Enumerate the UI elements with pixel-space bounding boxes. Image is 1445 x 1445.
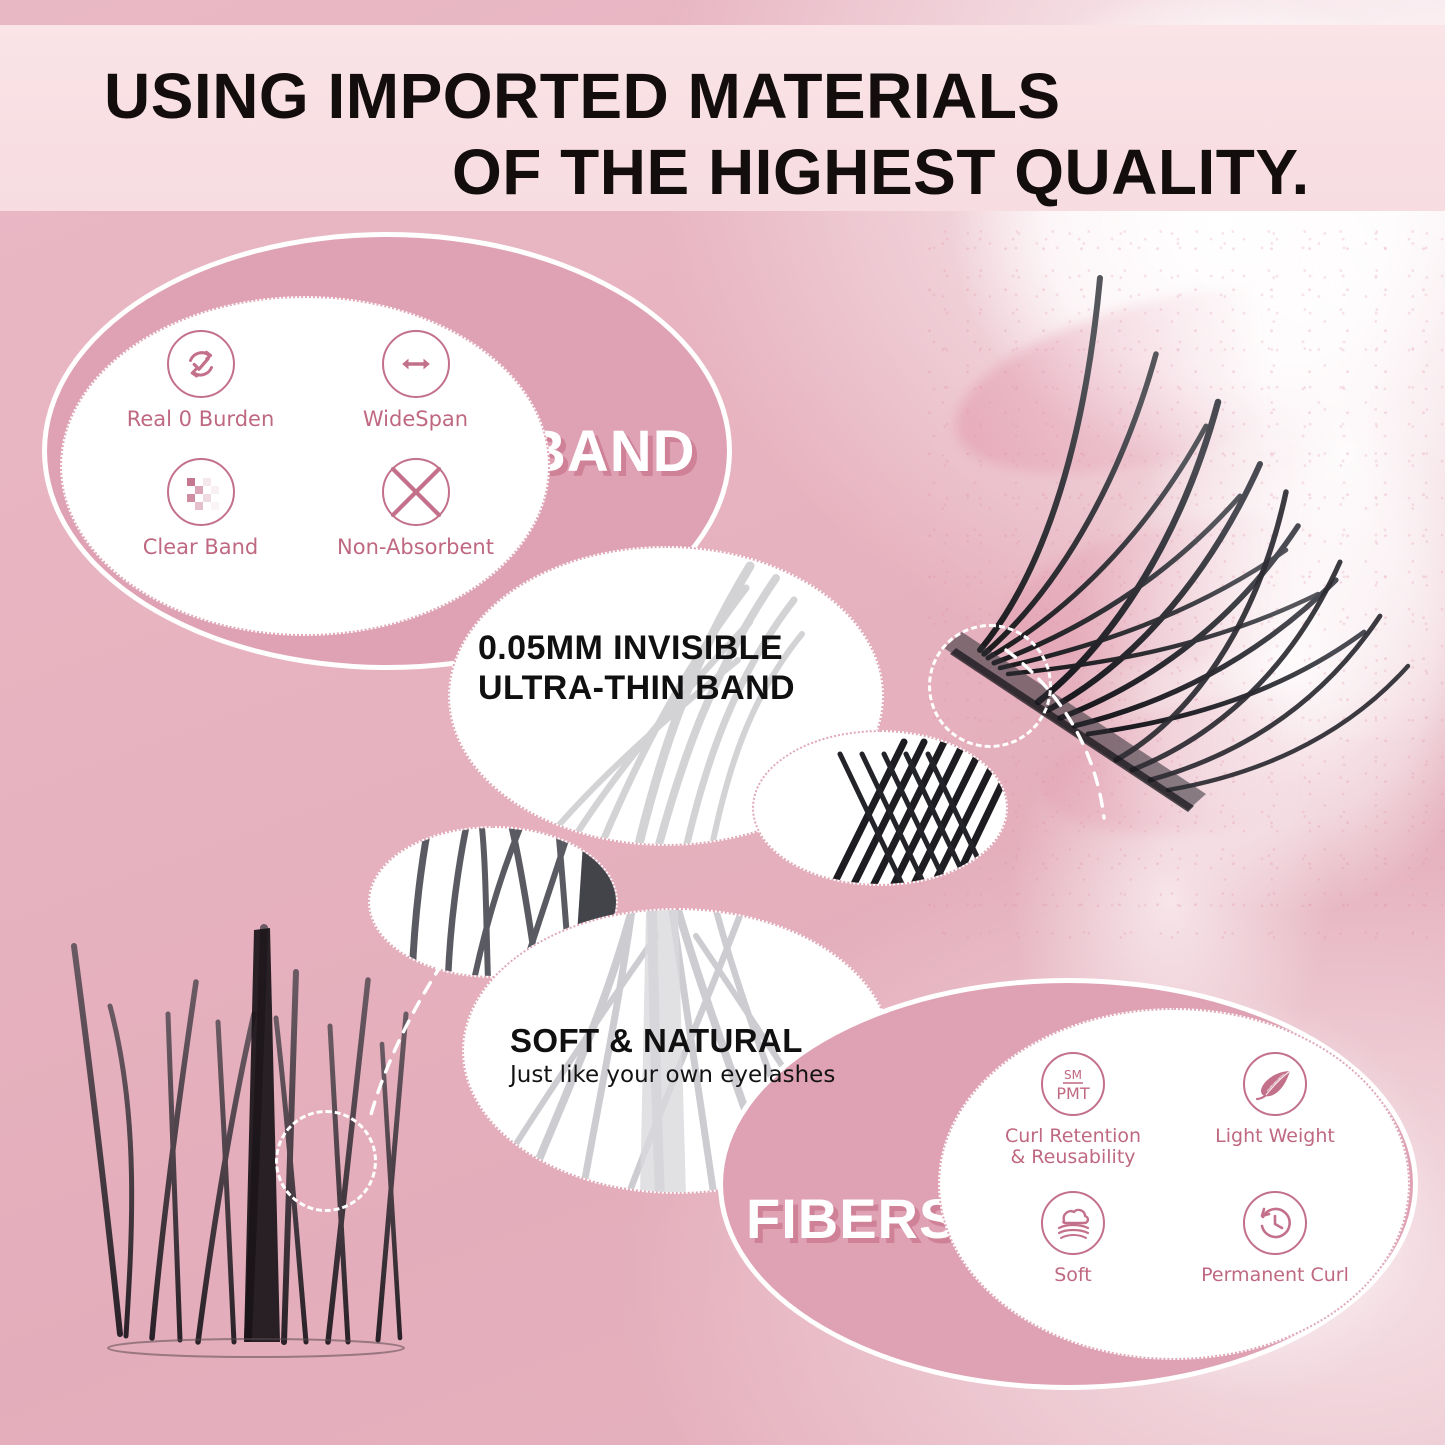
fibers-feature-label: Light Weight: [1215, 1126, 1335, 1147]
band-section-label: BAND: [524, 418, 696, 485]
dashed-zoom-ring-left: [275, 1110, 377, 1212]
band-feature-non-absorbent: Non-Absorbent: [313, 458, 518, 560]
band-feature-label: WideSpan: [363, 408, 468, 432]
sm-pmt-badge-icon: SM PMT: [1041, 1052, 1105, 1116]
band-feature-real-0-burden: Real 0 Burden: [98, 330, 303, 432]
fibers-feature-grid: SM PMT Curl Retention & Reusability Ligh: [976, 1052, 1372, 1286]
band-macro-lash-image: [754, 732, 1008, 886]
dashed-connector-band: [1000, 640, 1120, 830]
ultra-thin-band-heading: 0.05MM INVISIBLE ULTRA-THIN BAND: [478, 628, 858, 709]
pink-brush-stroke-upper: [937, 250, 1393, 509]
feather-icon: [1243, 1052, 1307, 1116]
fibers-feature-light-weight: Light Weight: [1178, 1052, 1372, 1169]
fibers-feature-permanent-curl: Permanent Curl: [1178, 1191, 1372, 1286]
infographic-canvas: USING IMPORTED MATERIALS OF THE HIGHEST …: [0, 0, 1445, 1445]
fibers-feature-label: Permanent Curl: [1201, 1265, 1349, 1286]
band-feature-grid: Real 0 Burden WideSpan: [98, 330, 518, 559]
cloud-waves-icon: [1041, 1191, 1105, 1255]
clock-rotate-icon: [1243, 1191, 1307, 1255]
dashed-zoom-ring-band: [928, 624, 1052, 748]
sm-label: SM: [1064, 1068, 1082, 1082]
soft-natural-heading: SOFT & NATURAL: [510, 1022, 860, 1060]
page-title-line-1: USING IMPORTED MATERIALS: [0, 59, 1445, 133]
pink-brush-stroke-lower: [1033, 676, 1408, 855]
double-arrow-horizontal-icon: [382, 330, 450, 398]
fibers-feature-soft: Soft: [976, 1191, 1170, 1286]
pink-brush-stroke-mid: [991, 486, 1409, 693]
ultra-thin-band-line-1: 0.05MM INVISIBLE: [478, 628, 858, 668]
fibers-feature-label: Curl Retention & Reusability: [1005, 1126, 1141, 1169]
header-banner: USING IMPORTED MATERIALS OF THE HIGHEST …: [0, 25, 1445, 211]
fibers-feature-label-line-2: & Reusability: [1005, 1147, 1141, 1168]
fibers-feature-label-line-1: Curl Retention: [1005, 1126, 1141, 1147]
cross-out-icon: [382, 458, 450, 526]
band-feature-widespan: WideSpan: [313, 330, 518, 432]
band-feature-label: Real 0 Burden: [127, 408, 275, 432]
ultra-thin-band-line-2: ULTRA-THIN BAND: [478, 668, 858, 708]
band-feature-label: Clear Band: [143, 536, 259, 560]
check-recycle-icon: [167, 330, 235, 398]
band-feature-label: Non-Absorbent: [337, 536, 494, 560]
fibers-feature-label: Soft: [1054, 1265, 1092, 1286]
dashed-connector-left: [320, 960, 450, 1130]
checkerboard-transparency-icon: [167, 458, 235, 526]
band-macro-zoom-bubble: [752, 730, 1008, 886]
pmt-label: PMT: [1056, 1084, 1089, 1103]
brush-wash-right: [945, 380, 1445, 1080]
lash-cluster-left-image: [48, 918, 468, 1370]
soft-natural-subheading: Just like your own eyelashes: [510, 1062, 870, 1088]
band-feature-clear-band: Clear Band: [98, 458, 303, 560]
fibers-feature-curl-retention: SM PMT Curl Retention & Reusability: [976, 1052, 1170, 1169]
page-title-line-2: OF THE HIGHEST QUALITY.: [0, 135, 1445, 209]
fibers-section-label: FIBERS: [746, 1186, 957, 1251]
